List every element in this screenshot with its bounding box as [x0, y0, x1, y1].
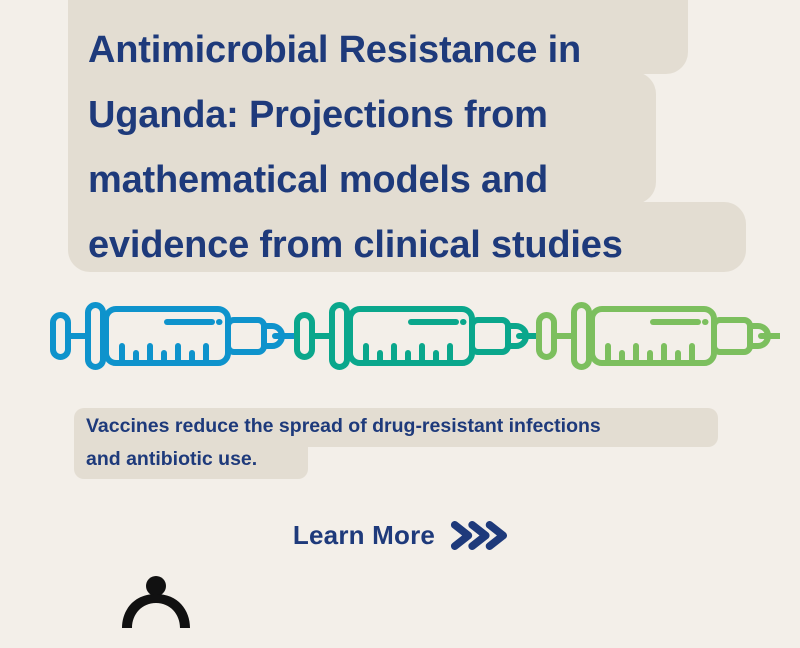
- subtitle-text: Vaccines reduce the spread of drug-resis…: [86, 410, 726, 476]
- triple-chevron-right-icon: [449, 519, 507, 552]
- syringe-icon-green: [530, 296, 780, 376]
- syringe-icon-blue: [44, 296, 294, 376]
- syringe-icon-row: [0, 296, 800, 376]
- learn-more-button[interactable]: Learn More: [0, 513, 800, 557]
- organization-emblem-logo: [118, 572, 194, 648]
- infographic-canvas: Antimicrobial Resistance in Uganda: Proj…: [0, 0, 800, 600]
- syringe-icon-teal: [288, 296, 538, 376]
- title-section: Antimicrobial Resistance in Uganda: Proj…: [0, 0, 800, 300]
- page-title: Antimicrobial Resistance in Uganda: Proj…: [88, 18, 708, 278]
- subtitle-section: Vaccines reduce the spread of drug-resis…: [0, 408, 800, 488]
- learn-more-label: Learn More: [293, 520, 435, 551]
